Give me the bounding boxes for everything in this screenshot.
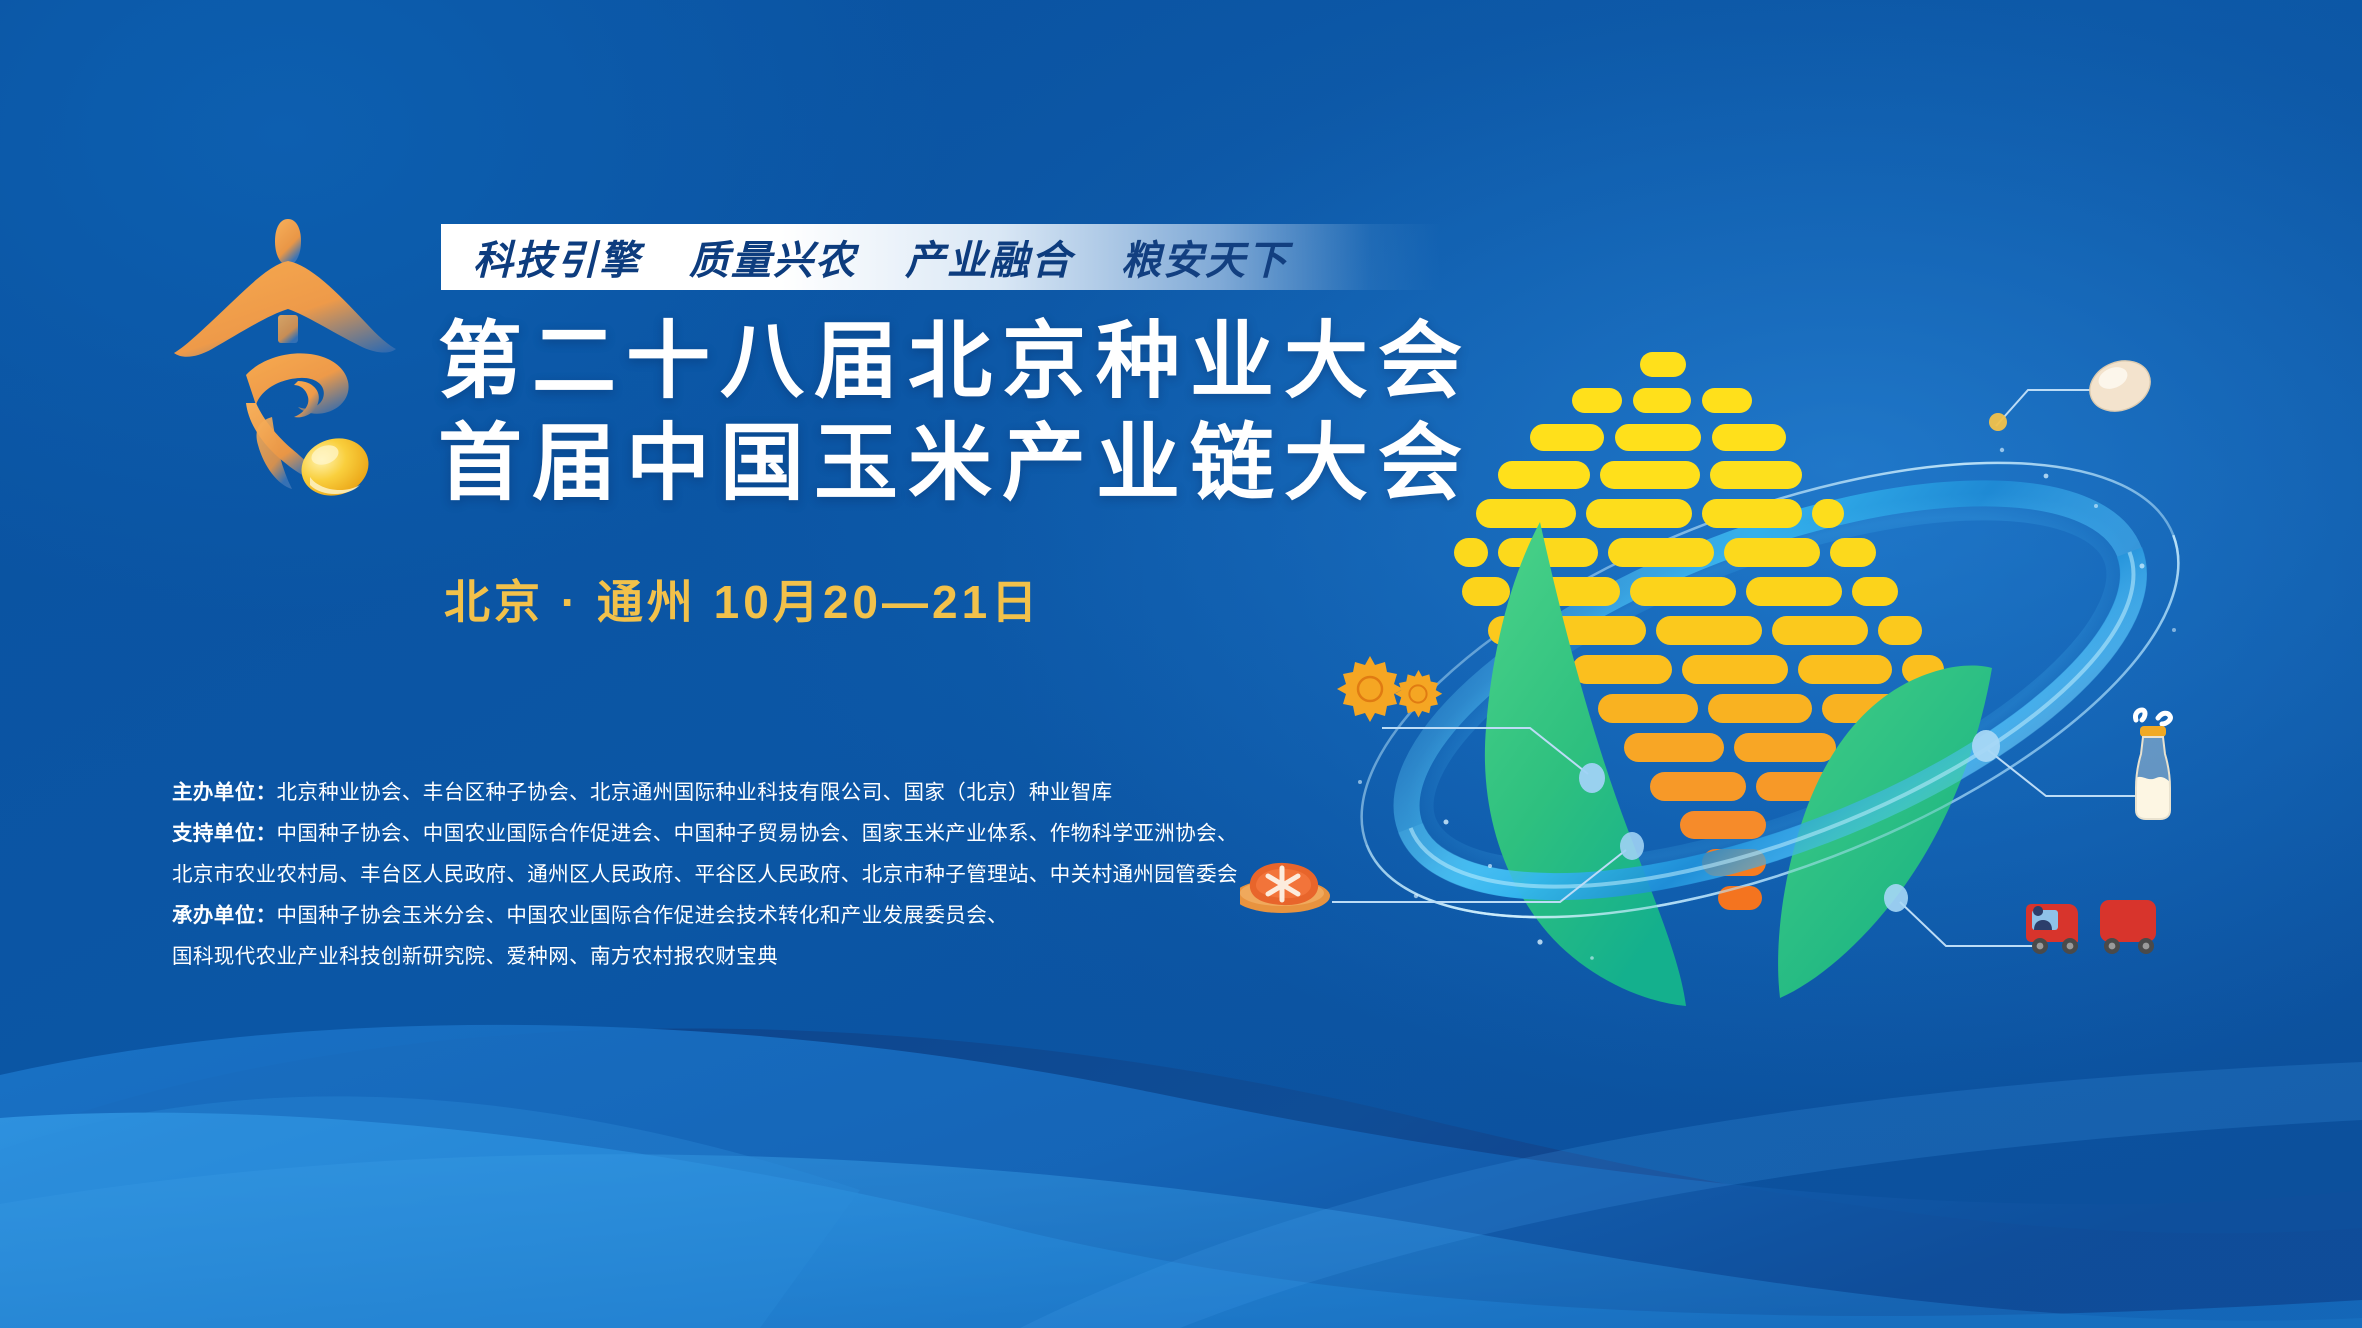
slogan-phrase-1: 科技引擎 bbox=[473, 228, 641, 286]
conference-logo bbox=[160, 205, 410, 505]
corn-industry-chain-illustration bbox=[1240, 330, 2300, 1010]
gears-icon bbox=[1337, 656, 1442, 722]
slogan-phrase-2: 质量兴农 bbox=[689, 228, 857, 286]
organizer-block: 主办单位：北京种业协会、丰台区种子协会、北京通州国际种业科技有限公司、国家（北京… bbox=[172, 772, 1322, 977]
organizer-label: 支持单位： bbox=[172, 822, 277, 845]
slogan-banner: 科技引擎 质量兴农 产业融合 粮安天下 bbox=[441, 224, 1441, 290]
organizer-value: 中国种子协会玉米分会、中国农业国际合作促进会技术转化和产业发展委员会、 bbox=[277, 904, 1009, 927]
organizer-row: 支持单位：中国种子协会、中国农业国际合作促进会、中国种子贸易协会、国家玉米产业体… bbox=[172, 813, 1322, 854]
organizer-row: 北京市农业农村局、丰台区人民政府、通州区人民政府、平谷区人民政府、北京市种子管理… bbox=[172, 854, 1322, 895]
organizer-value: 北京市农业农村局、丰台区人民政府、通州区人民政府、平谷区人民政府、北京市种子管理… bbox=[172, 863, 1238, 886]
organizer-value: 中国种子协会、中国农业国际合作促进会、中国种子贸易协会、国家玉米产业体系、作物科… bbox=[277, 822, 1238, 845]
organizer-value: 国科现代农业产业科技创新研究院、爱种网、南方农村报农财宝典 bbox=[172, 945, 778, 968]
organizer-row: 国科现代农业产业科技创新研究院、爱种网、南方农村报农财宝典 bbox=[172, 936, 1322, 977]
event-date-location: 北京 · 通州 10月20—21日 bbox=[444, 566, 1041, 632]
conference-banner: 科技引擎 质量兴农 产业融合 粮安天下 第二十八届北京种业大会 首届中国玉米产业… bbox=[0, 0, 2362, 1328]
delivery-truck-icon bbox=[2026, 900, 2156, 954]
slogan-phrase-4: 粮安天下 bbox=[1121, 228, 1289, 286]
slogan-phrases: 科技引擎 质量兴农 产业融合 粮安天下 bbox=[473, 228, 1289, 286]
organizer-value: 北京种业协会、丰台区种子协会、北京通州国际种业科技有限公司、国家（北京）种业智库 bbox=[277, 781, 1113, 804]
egg-icon bbox=[2082, 352, 2157, 420]
organizer-row: 承办单位：中国种子协会玉米分会、中国农业国际合作促进会技术转化和产业发展委员会、 bbox=[172, 895, 1322, 936]
milk-bottle-icon bbox=[2135, 710, 2170, 819]
organizer-label: 承办单位： bbox=[172, 904, 277, 927]
organizer-row: 主办单位：北京种业协会、丰台区种子协会、北京通州国际种业科技有限公司、国家（北京… bbox=[172, 772, 1322, 813]
slogan-phrase-3: 产业融合 bbox=[905, 228, 1073, 286]
meat-plate-icon bbox=[1240, 863, 1330, 913]
organizer-label: 主办单位： bbox=[172, 781, 277, 804]
